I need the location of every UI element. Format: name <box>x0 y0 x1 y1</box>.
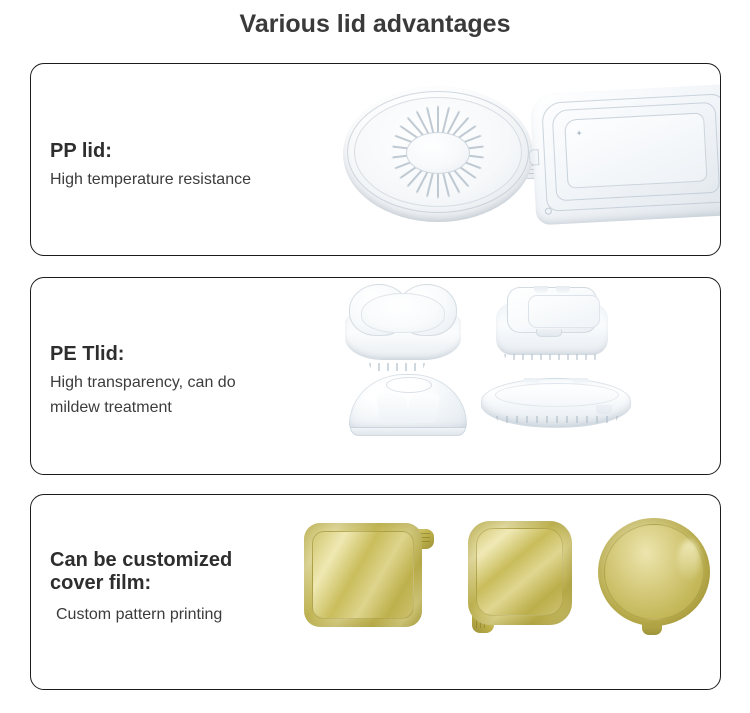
heart-lid-dome <box>349 284 457 338</box>
card-cover-film-products <box>246 495 720 689</box>
heart-lid-face <box>361 293 445 333</box>
dome-lid-rim <box>350 427 466 436</box>
card-pp-lid-products: ✦ <box>311 64 720 255</box>
square-pe-lid-image <box>496 287 608 360</box>
lid-center-oval <box>406 132 470 174</box>
card-cover-film-text: Can be customized cover film: Custom pat… <box>50 549 232 626</box>
oval-lid-body <box>481 378 631 428</box>
heart-lid-serration <box>369 363 425 371</box>
page-root: Various lid advantages PP lid: High temp… <box>0 0 750 713</box>
page-title: Various lid advantages <box>0 9 750 39</box>
foil-lid-body <box>468 521 572 625</box>
foil-lid-highlight <box>678 540 700 580</box>
card-cover-film-heading: Can be customized cover film: <box>50 549 232 595</box>
dome-lid-cap <box>349 374 467 432</box>
foil-lid-body <box>304 523 422 627</box>
gold-square-foil-lid-image <box>468 521 578 631</box>
card-pe-lid-heading: PE Tlid: <box>50 343 236 366</box>
card-cover-film-description: Custom pattern printing <box>50 604 232 626</box>
rectangular-pp-lid-image: ✦ <box>530 84 721 226</box>
card-pp-lid-text: PP lid: High temperature resistance <box>50 140 251 192</box>
round-ribbed-pp-lid-image <box>343 86 533 222</box>
heart-shaped-pe-lid-image <box>343 284 463 368</box>
card-pe-lid-description: High transparency, can do mildew treatme… <box>50 370 236 420</box>
square-lid-serration <box>504 354 600 360</box>
card-pe-lid: PE Tlid: High transparency, can do milde… <box>30 277 721 475</box>
oval-pe-lid-image <box>481 378 631 436</box>
gold-rectangular-foil-lid-image <box>304 523 434 627</box>
square-lid-inner-panel <box>528 295 600 328</box>
foil-lid-face <box>476 528 563 616</box>
card-pe-lid-text: PE Tlid: High transparency, can do milde… <box>50 343 236 420</box>
lid-embossed-mark: ✦ <box>576 129 583 138</box>
square-lid-notch-left <box>534 286 548 293</box>
square-lid-top <box>507 287 597 333</box>
square-lid-front-notch <box>536 329 562 337</box>
oval-lid-inner-panel <box>495 383 619 407</box>
card-pe-lid-products <box>331 278 720 474</box>
foil-lid-body <box>598 518 710 626</box>
card-cover-film: Can be customized cover film: Custom pat… <box>30 494 721 690</box>
card-pp-lid-heading: PP lid: <box>50 140 251 163</box>
dome-pe-lid-image <box>349 374 467 436</box>
gold-round-foil-lid-image <box>598 518 712 634</box>
card-pp-lid: PP lid: High temperature resistance ✦ <box>30 63 721 256</box>
square-lid-notch-right <box>556 286 570 293</box>
lid-groove-3 <box>564 112 707 188</box>
oval-lid-side-notch <box>596 405 612 414</box>
foil-lid-face <box>312 531 414 619</box>
dome-lid-top-ring <box>386 377 432 393</box>
dome-lid-highlight-right <box>405 393 440 423</box>
lid-side-notch <box>529 149 540 166</box>
card-pp-lid-description: High temperature resistance <box>50 167 251 192</box>
oval-lid-serration <box>496 416 618 423</box>
